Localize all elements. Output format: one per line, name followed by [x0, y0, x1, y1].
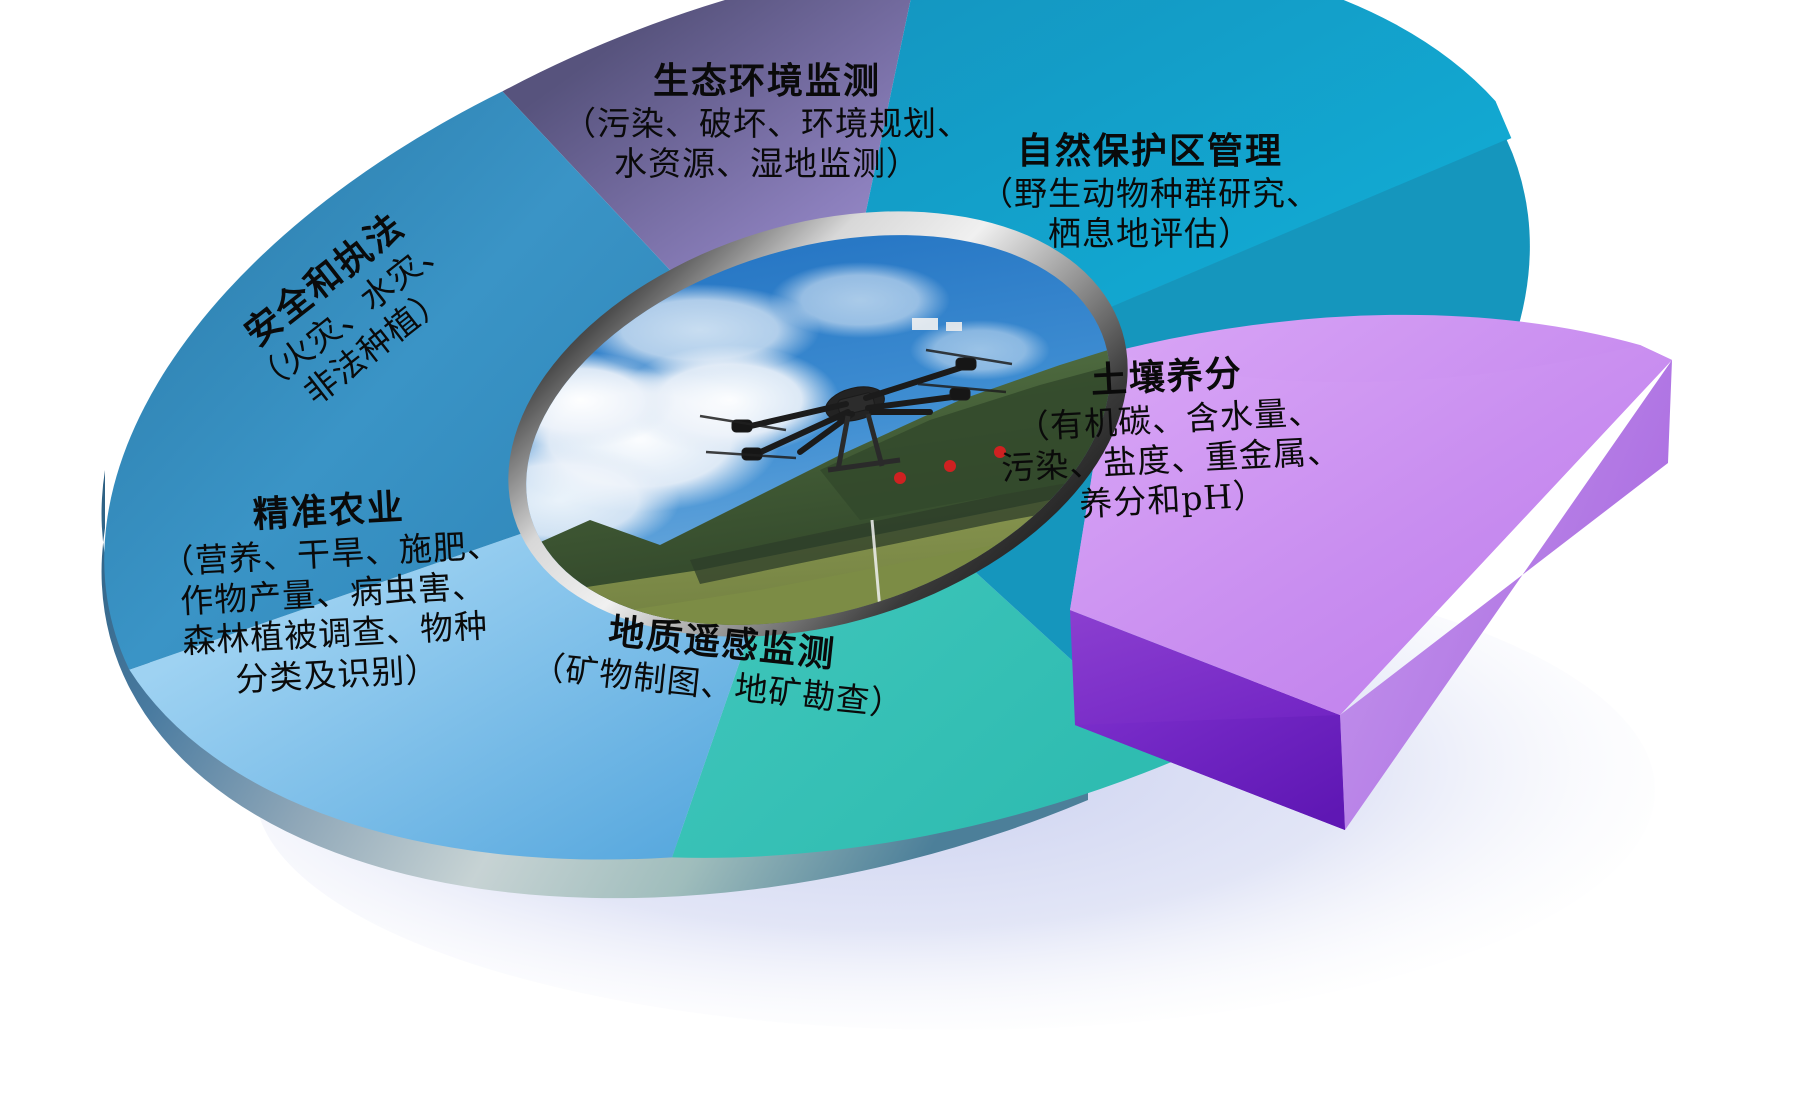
diagram-canvas: 生态环境监测 （污染、破坏、环境规划、 水资源、湿地监测） 自然保护区管理 （野…	[0, 0, 1809, 1101]
donut-wheel-svg	[0, 0, 1809, 1101]
